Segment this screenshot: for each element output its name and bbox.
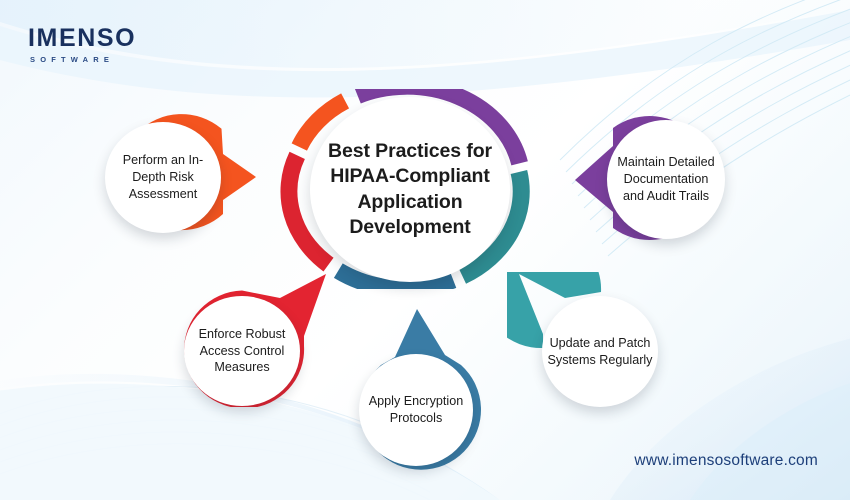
- page-title: Best Practices for HIPAA-Compliant Appli…: [319, 139, 501, 240]
- infographic-canvas: IMENSO SOFTWARE Best Practices for HIPAA…: [0, 0, 850, 500]
- node-disc: Enforce Robust Access Control Measures: [184, 296, 300, 406]
- brand-tagline: SOFTWARE: [30, 56, 136, 64]
- node-label: Update and Patch Systems Regularly: [545, 335, 655, 368]
- brand-name: IMENSO: [28, 26, 136, 51]
- node-apply-encryption[interactable]: Apply Encryption Protocols: [341, 307, 501, 470]
- hub-center: Best Practices for HIPAA-Compliant Appli…: [310, 97, 510, 282]
- node-enforce-access-control[interactable]: Enforce Robust Access Control Measures: [176, 272, 341, 407]
- node-disc: Perform an In-Depth Risk Assessment: [105, 122, 221, 233]
- node-disc: Update and Patch Systems Regularly: [542, 296, 658, 407]
- node-label: Enforce Robust Access Control Measures: [186, 326, 298, 376]
- node-perform-risk-assessment[interactable]: Perform an In-Depth Risk Assessment: [97, 104, 272, 239]
- node-label: Perform an In-Depth Risk Assessment: [110, 152, 216, 202]
- node-disc: Maintain Detailed Documentation and Audi…: [607, 120, 725, 239]
- central-hub: Best Practices for HIPAA-Compliant Appli…: [279, 89, 541, 289]
- brand-logo: IMENSO SOFTWARE: [28, 26, 136, 64]
- node-maintain-documentation[interactable]: Maintain Detailed Documentation and Audi…: [557, 104, 732, 252]
- node-label: Apply Encryption Protocols: [364, 393, 468, 426]
- node-update-patch-systems[interactable]: Update and Patch Systems Regularly: [507, 272, 672, 410]
- node-label: Maintain Detailed Documentation and Audi…: [612, 154, 720, 204]
- node-disc: Apply Encryption Protocols: [359, 354, 473, 466]
- website-url[interactable]: www.imensosoftware.com: [634, 452, 818, 470]
